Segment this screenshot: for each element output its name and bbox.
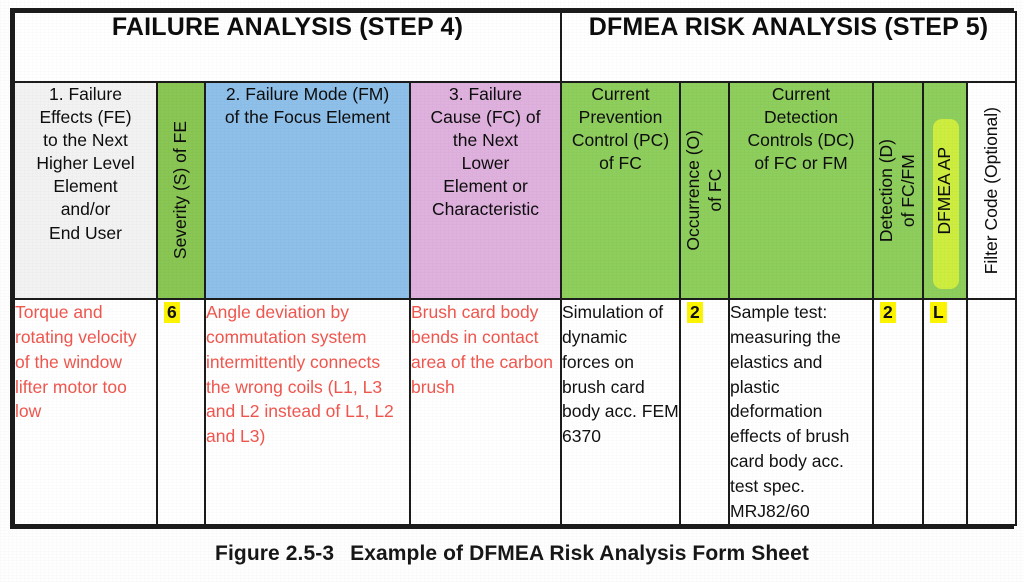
column-header-filter-code: Filter Code (Optional) <box>967 82 1016 299</box>
step-header-row: FAILURE ANALYSIS (STEP 4) DFMEA RISK ANA… <box>14 12 1016 82</box>
cell-detection-controls: Sample test: measuring the elastics and … <box>729 299 873 525</box>
severity-value: 6 <box>164 302 180 323</box>
dfmea-form-table: FAILURE ANALYSIS (STEP 4) DFMEA RISK ANA… <box>10 8 1014 529</box>
occurrence-value: 2 <box>687 302 703 323</box>
column-header-row: 1. Failure Effects (FE) to the Next High… <box>14 82 1016 299</box>
column-header-severity-label: Severity (S) of FE <box>170 121 192 259</box>
column-header-dfmea-ap: DFMEA AP <box>923 82 967 299</box>
column-header-occurrence-label: Occurrence (O) of FC <box>683 130 727 251</box>
form-table: FAILURE ANALYSIS (STEP 4) DFMEA RISK ANA… <box>13 11 1017 526</box>
step-header-dfmea-risk-analysis: DFMEA RISK ANALYSIS (STEP 5) <box>561 12 1016 82</box>
column-header-detection: Detection (D) of FC/FM <box>873 82 923 299</box>
cell-filter-code <box>967 299 1016 525</box>
column-header-failure-cause-label: 3. Failure Cause (FC) of the Next Lower … <box>431 84 541 219</box>
dfmea-ap-value: L <box>930 302 947 323</box>
cell-failure-mode: Angle deviation by commutation system in… <box>205 299 410 525</box>
cell-occurrence: 2 <box>680 299 729 525</box>
column-header-failure-cause: 3. Failure Cause (FC) of the Next Lower … <box>410 82 561 299</box>
column-header-dfmea-ap-label: DFMEA AP <box>934 147 956 235</box>
column-header-detection-controls-label: Current Detection Controls (DC) of FC or… <box>748 84 855 173</box>
cell-prevention-control: Simulation of dynamic forces on brush ca… <box>561 299 680 525</box>
table-row: Torque and rotating velocity of the wind… <box>14 299 1016 525</box>
column-header-filter-code-label: Filter Code (Optional) <box>981 107 1003 274</box>
vertical-text-severity: Severity (S) of FE <box>158 83 204 298</box>
vertical-text-occurrence: Occurrence (O) of FC <box>681 83 728 298</box>
cell-severity: 6 <box>157 299 205 525</box>
column-header-occurrence: Occurrence (O) of FC <box>680 82 729 299</box>
figure-caption: Figure 2.5-3Example of DFMEA Risk Analys… <box>0 542 1024 566</box>
vertical-text-detection: Detection (D) of FC/FM <box>874 83 922 298</box>
figure-caption-number: Figure 2.5-3 <box>215 542 334 565</box>
vertical-text-dfmea-ap: DFMEA AP <box>924 83 966 298</box>
detection-value: 2 <box>880 302 896 323</box>
vertical-text-filter-code: Filter Code (Optional) <box>968 83 1015 298</box>
cell-failure-effects: Torque and rotating velocity of the wind… <box>14 299 157 525</box>
column-header-prevention-control-label: Current Prevention Control (PC) of FC <box>572 84 669 173</box>
column-header-prevention-control: Current Prevention Control (PC) of FC <box>561 82 680 299</box>
column-header-failure-mode: 2. Failure Mode (FM) of the Focus Elemen… <box>205 82 410 299</box>
column-header-detection-label: Detection (D) of FC/FM <box>876 139 920 242</box>
column-header-failure-mode-label: 2. Failure Mode (FM) of the Focus Elemen… <box>225 84 390 127</box>
column-header-failure-effects-label: 1. Failure Effects (FE) to the Next High… <box>36 84 134 243</box>
figure-caption-title: Example of DFMEA Risk Analysis Form Shee… <box>350 542 809 565</box>
column-header-detection-controls: Current Detection Controls (DC) of FC or… <box>729 82 873 299</box>
page-canvas: FAILURE ANALYSIS (STEP 4) DFMEA RISK ANA… <box>0 0 1024 582</box>
cell-dfmea-ap: L <box>923 299 967 525</box>
column-header-severity: Severity (S) of FE <box>157 82 205 299</box>
column-header-failure-effects: 1. Failure Effects (FE) to the Next High… <box>14 82 157 299</box>
step-header-failure-analysis: FAILURE ANALYSIS (STEP 4) <box>14 12 561 82</box>
cell-detection: 2 <box>873 299 923 525</box>
cell-failure-cause: Brush card body bends in contact area of… <box>410 299 561 525</box>
